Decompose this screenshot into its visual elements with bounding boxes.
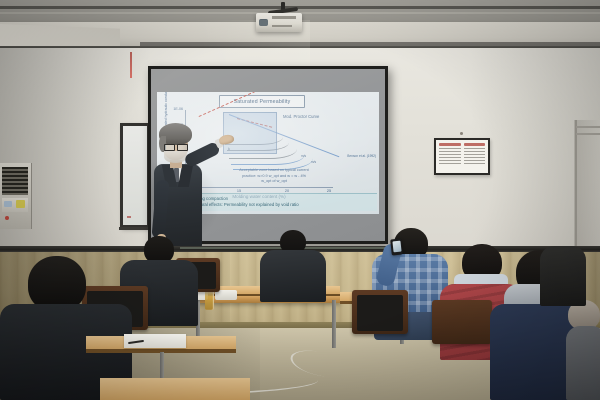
door-trim-upper	[576, 126, 600, 128]
air-conditioner-sticker-yellow	[16, 200, 25, 208]
smartphone-screen	[392, 241, 401, 253]
notice-nail	[460, 132, 463, 135]
attendee-back-center	[258, 230, 328, 300]
attendee-right-back	[540, 236, 586, 306]
door-frame	[574, 120, 600, 253]
chart-y-tick: 1E-06	[173, 108, 183, 112]
projector-label-strip	[272, 25, 292, 27]
chart-inset-highlight	[223, 112, 277, 154]
chair-cushion	[357, 295, 403, 331]
attendee-far-right	[566, 300, 600, 400]
notice-column-left	[439, 143, 461, 172]
air-conditioner-sticker-blue	[4, 201, 12, 207]
projector-lens-icon	[259, 19, 268, 26]
attendee-jacket	[260, 250, 326, 302]
notice-column-right	[464, 143, 486, 172]
air-conditioner-grille-icon	[2, 167, 28, 195]
door-frame-edge	[575, 120, 577, 253]
whiteboard-tray	[119, 227, 151, 230]
attendee-jacket	[566, 326, 600, 400]
chart-annotation-proctor: Mod. Proctor Curve	[283, 114, 319, 120]
attendee-silhouette	[540, 246, 586, 306]
notice-heading-right	[464, 143, 486, 146]
projector-vent	[272, 16, 296, 19]
door-trim-lower	[576, 133, 600, 135]
presenter-beard	[164, 151, 187, 163]
whiteboard	[120, 123, 150, 228]
chart-citation: Benson et al. (1992)	[347, 154, 376, 158]
hanging-cord	[130, 52, 132, 78]
ceiling-seam	[0, 6, 600, 9]
desk-row-foreground-top	[100, 378, 250, 400]
air-conditioner-indicator-icon	[5, 216, 9, 220]
wall-notice-content	[437, 141, 487, 172]
presenter	[150, 118, 230, 248]
lecture-hall-photo: Saturated Permeability Saturated hydraul…	[0, 0, 600, 400]
chair	[432, 300, 492, 344]
notice-heading-left	[439, 143, 461, 146]
chart-annotation-acceptable-zone: Acceptable zone based on typical current…	[237, 168, 311, 185]
desk-leg	[332, 300, 336, 348]
glasses-icon	[164, 144, 187, 149]
whiteboard-marker-mark	[127, 216, 131, 218]
